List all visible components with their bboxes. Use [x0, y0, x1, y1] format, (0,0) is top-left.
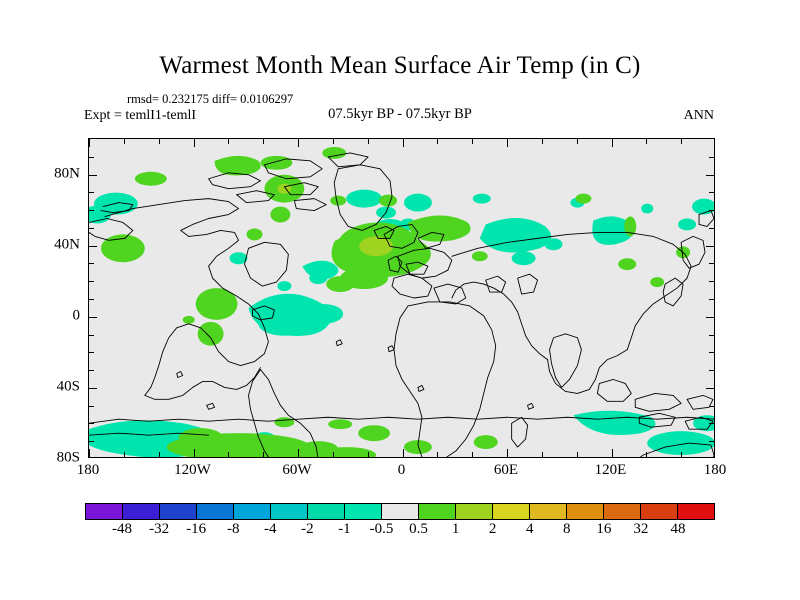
y-tick-minor — [89, 441, 94, 442]
colorbar — [85, 503, 715, 520]
colorbar-cell-6 — [308, 504, 345, 519]
x-axis-label: 60W — [282, 462, 311, 479]
x-tick-top-minor — [368, 139, 369, 144]
x-tick-major — [194, 449, 195, 457]
colorbar-cell-1 — [123, 504, 160, 519]
colorbar-tick-label: 16 — [596, 521, 611, 538]
x-tick-top-minor — [263, 139, 264, 144]
y-tick-major — [89, 317, 97, 318]
x-axis-label: 120W — [174, 462, 211, 479]
x-axis-label: 60E — [494, 462, 518, 479]
x-tick-major — [403, 449, 404, 457]
colorbar-cell-0 — [86, 504, 123, 519]
y-tick-right-minor — [709, 299, 714, 300]
rmsd-statistics-label: rmsd= 0.232175 diff= 0.0106297 — [127, 92, 293, 107]
x-tick-major — [89, 449, 90, 457]
colorbar-tick-label: 8 — [563, 521, 571, 538]
y-tick-right-minor — [709, 406, 714, 407]
y-tick-major — [89, 388, 97, 389]
page-title: Warmest Month Mean Surface Air Temp (in … — [0, 52, 800, 80]
x-axis-label: 120E — [595, 462, 627, 479]
colorbar-cell-16 — [678, 504, 714, 519]
colorbar-cell-8 — [382, 504, 419, 519]
y-tick-minor — [89, 299, 94, 300]
colorbar-tick-label: -16 — [186, 521, 206, 538]
y-axis-label: 40N — [54, 236, 80, 253]
time-period-label: 07.5kyr BP - 07.5kyr BP — [0, 106, 800, 123]
colorbar-tick-label: -0.5 — [370, 521, 394, 538]
y-tick-right-major — [706, 175, 714, 176]
colorbar-cell-11 — [493, 504, 530, 519]
y-tick-minor — [89, 423, 94, 424]
colorbar-cell-3 — [197, 504, 234, 519]
x-tick-minor — [333, 452, 334, 457]
y-tick-right-major — [706, 317, 714, 318]
y-tick-right-major — [706, 246, 714, 247]
x-tick-minor — [472, 452, 473, 457]
y-tick-minor — [89, 263, 94, 264]
y-tick-right-minor — [709, 335, 714, 336]
x-tick-minor — [646, 452, 647, 457]
colorbar-cell-10 — [456, 504, 493, 519]
y-tick-right-minor — [709, 263, 714, 264]
colorbar-cell-5 — [271, 504, 308, 519]
y-tick-minor — [89, 210, 94, 211]
y-tick-right-minor — [709, 281, 714, 282]
x-tick-minor — [159, 452, 160, 457]
colorbar-tick-label: -2 — [301, 521, 314, 538]
y-tick-right-minor — [709, 423, 714, 424]
y-axis-label: 40S — [57, 378, 80, 395]
colorbar-cell-2 — [160, 504, 197, 519]
x-tick-top-minor — [124, 139, 125, 144]
colorbar-cell-12 — [530, 504, 567, 519]
y-tick-minor — [89, 192, 94, 193]
x-tick-top-major — [507, 139, 508, 147]
colorbar-tick-label: 32 — [633, 521, 648, 538]
colorbar-cell-13 — [567, 504, 604, 519]
season-label: ANN — [684, 108, 714, 124]
y-axis-label: 80S — [57, 450, 80, 467]
x-tick-minor — [263, 452, 264, 457]
colorbar-tick-label: 0.5 — [409, 521, 428, 538]
x-tick-minor — [124, 452, 125, 457]
colorbar-tick-label: 1 — [452, 521, 460, 538]
y-tick-major — [89, 246, 97, 247]
x-axis-label: 0 — [398, 462, 406, 479]
x-tick-minor — [542, 452, 543, 457]
x-axis-label: 180 — [704, 462, 727, 479]
y-tick-right-minor — [709, 210, 714, 211]
y-tick-minor — [89, 228, 94, 229]
x-tick-minor — [368, 452, 369, 457]
colorbar-tick-label: -8 — [227, 521, 240, 538]
x-tick-minor — [681, 452, 682, 457]
colorbar-cell-15 — [641, 504, 678, 519]
y-tick-minor — [89, 352, 94, 353]
y-tick-minor — [89, 281, 94, 282]
colorbar-tick-label: -4 — [264, 521, 277, 538]
x-tick-top-major — [194, 139, 195, 147]
y-tick-minor — [89, 370, 94, 371]
x-tick-top-major — [403, 139, 404, 147]
y-tick-minor — [89, 335, 94, 336]
y-tick-right-minor — [709, 157, 714, 158]
colorbar-tick-label: 2 — [489, 521, 497, 538]
colorbar-labels: -48-32-16-8-4-2-1-0.50.51248163248 — [85, 521, 715, 543]
x-tick-minor — [228, 452, 229, 457]
y-tick-minor — [89, 157, 94, 158]
x-tick-minor — [437, 452, 438, 457]
x-tick-top-minor — [437, 139, 438, 144]
x-tick-top-minor — [646, 139, 647, 144]
y-tick-right-major — [706, 388, 714, 389]
map-plot-area — [88, 138, 715, 458]
x-tick-minor — [577, 452, 578, 457]
colorbar-tick-label: 4 — [526, 521, 534, 538]
y-tick-minor — [89, 406, 94, 407]
colorbar-cell-9 — [419, 504, 456, 519]
colorbar-cell-14 — [604, 504, 641, 519]
x-tick-top-minor — [577, 139, 578, 144]
x-tick-top-major — [612, 139, 613, 147]
y-axis-label: 0 — [73, 307, 81, 324]
x-tick-top-minor — [333, 139, 334, 144]
y-axis-label: 80N — [54, 165, 80, 182]
x-tick-top-minor — [159, 139, 160, 144]
y-tick-right-minor — [709, 352, 714, 353]
y-tick-right-minor — [709, 192, 714, 193]
colorbar-tick-label: -48 — [112, 521, 132, 538]
colorbar-cell-4 — [234, 504, 271, 519]
x-tick-top-minor — [542, 139, 543, 144]
y-tick-right-minor — [709, 441, 714, 442]
x-tick-top-major — [298, 139, 299, 147]
x-tick-top-minor — [681, 139, 682, 144]
x-tick-top-minor — [228, 139, 229, 144]
y-tick-right-minor — [709, 370, 714, 371]
colorbar-tick-label: 48 — [670, 521, 685, 538]
y-tick-right-minor — [709, 228, 714, 229]
map-background — [89, 139, 714, 457]
x-tick-top-major — [89, 139, 90, 147]
y-tick-major — [89, 175, 97, 176]
x-axis-label: 180 — [77, 462, 100, 479]
colorbar-cell-7 — [345, 504, 382, 519]
world-map-svg — [89, 139, 714, 457]
x-tick-major — [612, 449, 613, 457]
x-tick-top-minor — [472, 139, 473, 144]
colorbar-tick-label: -32 — [149, 521, 169, 538]
x-tick-major — [507, 449, 508, 457]
colorbar-tick-label: -1 — [338, 521, 351, 538]
x-tick-major — [298, 449, 299, 457]
